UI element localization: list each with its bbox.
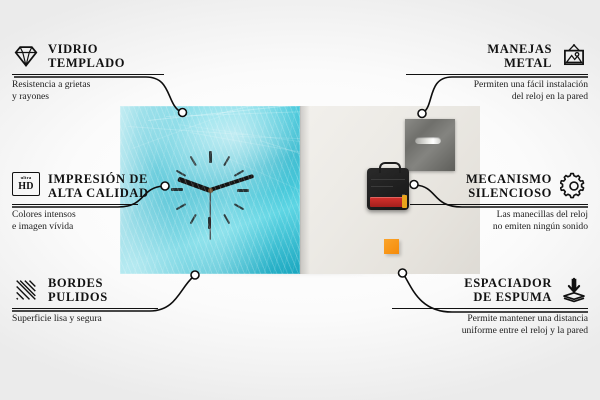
- feature-header: MECANISMO SILENCIOSO: [348, 172, 588, 200]
- feature-title-line1: ESPACIADOR: [464, 276, 552, 290]
- feature-desc-line2: no emiten ningún sonido: [348, 221, 588, 233]
- feature-desc-line1: Resistencia a grietas: [12, 79, 242, 91]
- diamond-icon: [12, 42, 40, 70]
- feature-title-line1: VIDRIO: [48, 42, 125, 56]
- feature-title-line2: ALTA CALIDAD: [48, 186, 149, 200]
- feature-desc-line2: del reloj en la pared: [348, 91, 588, 103]
- feature-impresion-alta-calidad[interactable]: ultra HD IMPRESIÓN DE ALTA CALIDAD Color…: [12, 172, 242, 233]
- feature-divider: [12, 204, 138, 205]
- feature-title-line2: TEMPLADO: [48, 56, 125, 70]
- feature-divider: [406, 74, 588, 75]
- feature-mecanismo-silencioso[interactable]: MECANISMO SILENCIOSO Las manecillas del …: [348, 172, 588, 233]
- feature-manejas-metal[interactable]: MANEJAS METAL Permiten una fácil instala…: [348, 42, 588, 103]
- framed-picture-hanging-icon: [560, 42, 588, 70]
- feature-desc-line2: e imagen vívida: [12, 221, 242, 233]
- hanger-slot: [415, 137, 441, 144]
- feature-bordes-pulidos[interactable]: BORDES PULIDOS Superficie lisa y segura: [12, 276, 242, 325]
- feature-divider: [12, 308, 158, 309]
- feature-desc-line1: Permite mantener una distancia: [338, 313, 588, 325]
- feature-desc-line2: y rayones: [12, 91, 242, 103]
- feature-title-line2: METAL: [487, 56, 552, 70]
- feature-title-line2: DE ESPUMA: [464, 290, 552, 304]
- polished-edges-icon: [12, 276, 40, 304]
- feature-desc-line2: uniforme entre el reloj y la pared: [338, 325, 588, 337]
- metal-hanger: [405, 119, 455, 171]
- product-infographic: VIDRIO TEMPLADO Resistencia a grietas y …: [0, 0, 600, 400]
- feature-desc-line1: Las manecillas del reloj: [348, 209, 588, 221]
- ultra-hd-icon: ultra HD: [12, 172, 40, 200]
- gear-icon: [560, 172, 588, 200]
- feature-vidrio-templado[interactable]: VIDRIO TEMPLADO Resistencia a grietas y …: [12, 42, 242, 103]
- hd-badge-big: HD: [18, 182, 34, 192]
- foam-spacer: [384, 239, 399, 254]
- feature-title-line1: BORDES: [48, 276, 108, 290]
- feature-desc-line1: Permiten una fácil instalación: [348, 79, 588, 91]
- feature-title-line1: MECANISMO: [466, 172, 552, 186]
- feature-desc-line1: Superficie lisa y segura: [12, 313, 242, 325]
- feature-title-line2: SILENCIOSO: [466, 186, 552, 200]
- feature-header: ESPACIADOR DE ESPUMA: [338, 276, 588, 304]
- feature-desc-line1: Colores intensos: [12, 209, 242, 221]
- feature-divider: [12, 74, 164, 75]
- feature-divider: [392, 308, 588, 309]
- feature-divider: [410, 204, 588, 205]
- feature-header: ultra HD IMPRESIÓN DE ALTA CALIDAD: [12, 172, 242, 200]
- arrow-down-onto-layer-icon: [560, 276, 588, 304]
- feature-header: MANEJAS METAL: [348, 42, 588, 70]
- feature-title-line2: PULIDOS: [48, 290, 108, 304]
- feature-espaciador-espuma[interactable]: ESPACIADOR DE ESPUMA Permite mantener un…: [338, 276, 588, 337]
- feature-title-line1: MANEJAS: [487, 42, 552, 56]
- feature-title-line1: IMPRESIÓN DE: [48, 172, 149, 186]
- feature-header: BORDES PULIDOS: [12, 276, 242, 304]
- feature-header: VIDRIO TEMPLADO: [12, 42, 242, 70]
